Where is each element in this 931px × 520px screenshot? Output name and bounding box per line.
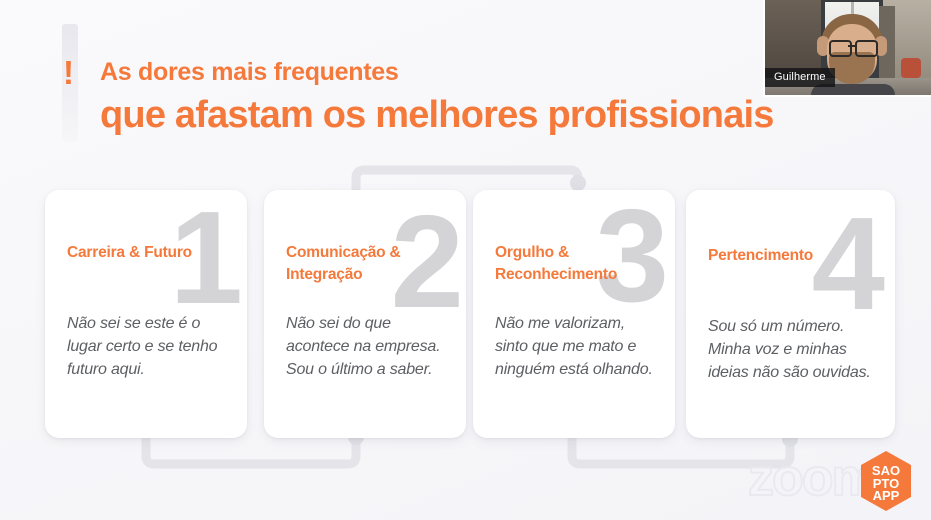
pain-card-1: 1 Carreira & Futuro Não sei se este é o … xyxy=(45,190,247,438)
card-title-4: Pertencimento xyxy=(708,245,883,267)
card-title-2: Comunicação & Integração xyxy=(286,242,454,287)
webcam-participant-name: Guilherme xyxy=(765,68,835,87)
zoom-screenshare-slide: ! As dores mais frequentes que afastam o… xyxy=(0,0,931,520)
heading-headline: que afastam os melhores profissionais xyxy=(100,94,774,137)
card-body-3: Não me valorizam, sinto que me mato e ni… xyxy=(495,312,661,382)
connector-dot-top xyxy=(570,175,586,191)
card-body-4: Sou só um número. Minha voz e minhas ide… xyxy=(708,315,881,385)
svg-text:APP: APP xyxy=(873,488,900,503)
card-title-1: Carreira & Futuro xyxy=(67,242,235,264)
card-body-2: Não sei do que acontece na empresa. Sou … xyxy=(286,312,452,382)
card-body-1: Não sei se este é o lugar certo e se ten… xyxy=(67,312,233,382)
card-title-3: Orgulho & Reconhecimento xyxy=(495,242,663,287)
pain-card-4: 4 Pertencimento Sou só um número. Minha … xyxy=(686,190,895,438)
pain-card-2: 2 Comunicação & Integração Não sei do qu… xyxy=(264,190,466,438)
exclamation-icon: ! xyxy=(63,56,74,89)
webcam-tile-guilherme[interactable]: Guilherme xyxy=(763,0,931,97)
zoom-watermark-logo-icon: SAO PTO APP xyxy=(856,450,916,512)
pain-card-3: 3 Orgulho & Reconhecimento Não me valori… xyxy=(473,190,675,438)
heading-eyebrow: As dores mais frequentes xyxy=(100,58,398,87)
